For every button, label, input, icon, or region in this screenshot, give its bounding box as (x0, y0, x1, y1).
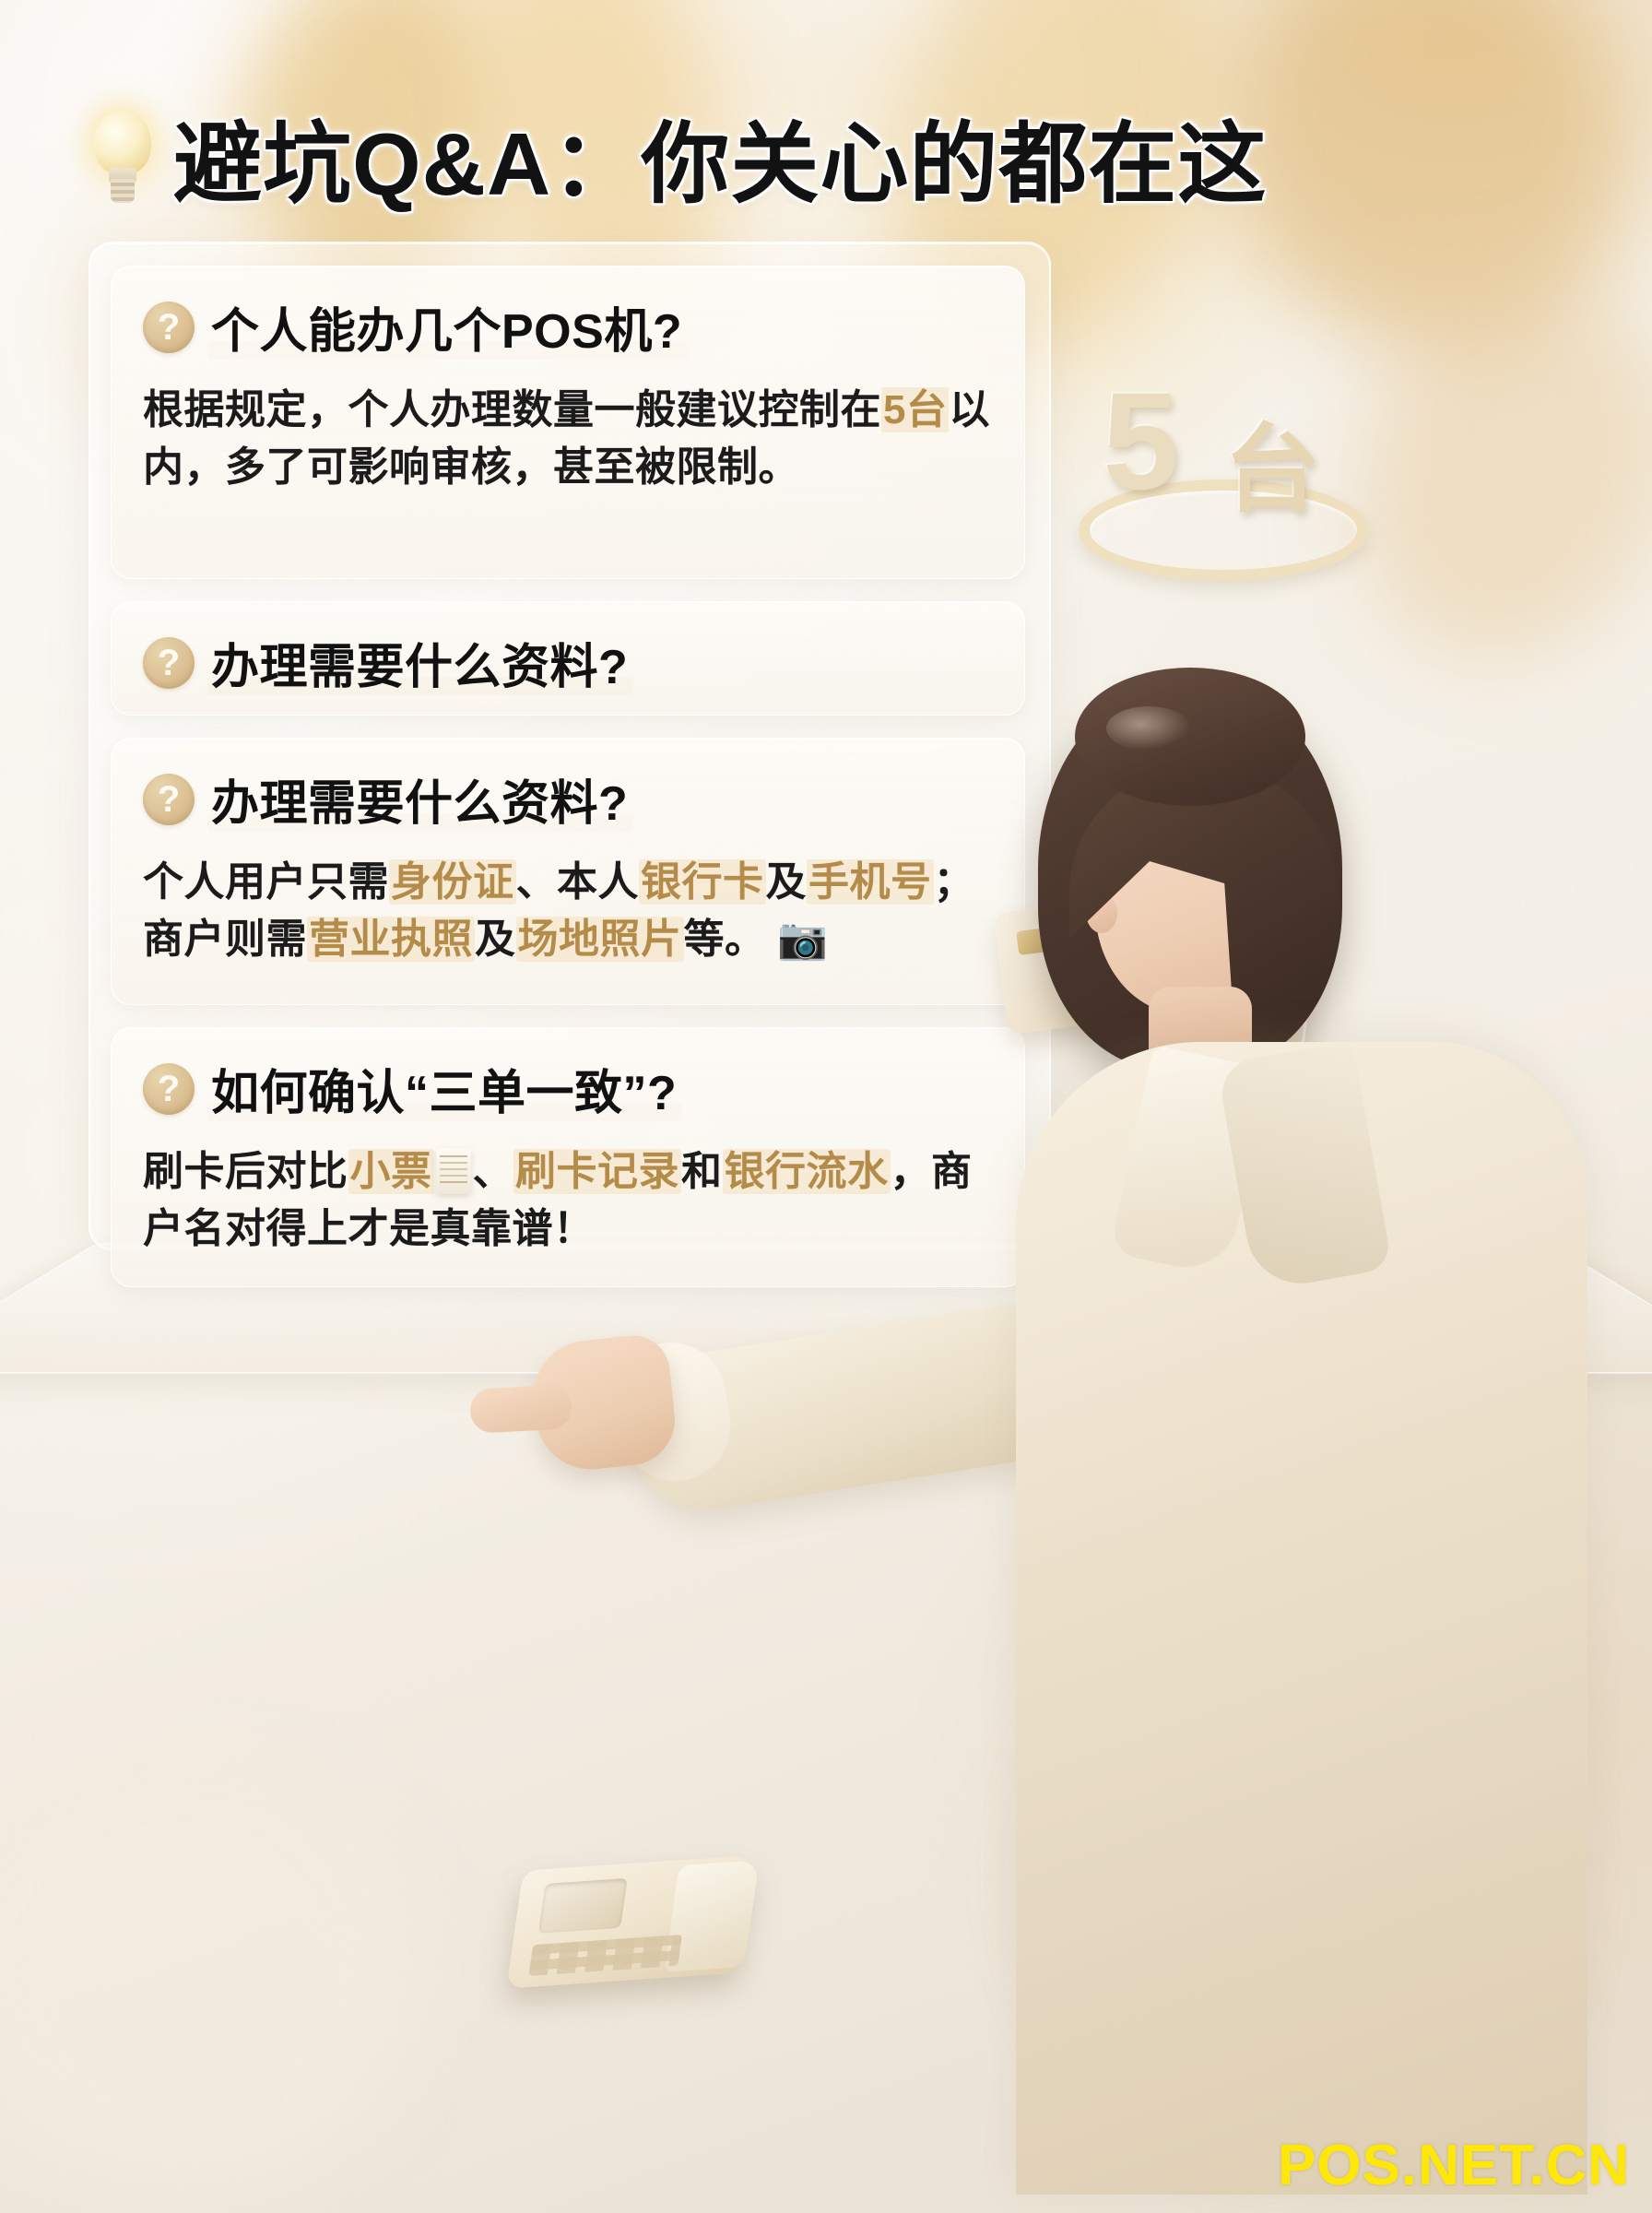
qa-card[interactable]: ? 办理需要什么资料? (111, 601, 1025, 716)
qa-card[interactable]: ? 如何确认“三单一致”? 刷卡后对比小票、刷卡记录和银行流水，商户名对得上才是… (111, 1027, 1025, 1287)
highlighted-term: 手机号 (807, 859, 934, 905)
answer-text-run: 及 (475, 917, 516, 962)
answer-text-run: 根据规定，个人办理数量一般建议控制在 (143, 387, 881, 432)
qa-card[interactable]: ? 个人能办几个POS机? 根据规定，个人办理数量一般建议控制在5台以内，多了可… (111, 266, 1025, 579)
question-text: 如何确认“三单一致”? (211, 1054, 677, 1123)
qa-card-list: ? 个人能办几个POS机? 根据规定，个人办理数量一般建议控制在5台以内，多了可… (111, 266, 1025, 1309)
answer-text: 个人用户只需身份证、本人银行卡及手机号；商户则需营业执照及场地照片等。 📷 (143, 854, 993, 969)
prop-unit: 台 (1224, 391, 1320, 530)
poster-root: 避坑Q&A：你关心的都在这 5 台 ? 个人能办几个POS机? 根据规定，个人办… (0, 0, 1652, 2213)
question-text: 办理需要什么资料? (211, 628, 628, 697)
question-mark-icon: ? (143, 774, 195, 825)
highlighted-term: 场地照片 (516, 917, 684, 962)
answer-text: 刷卡后对比小票、刷卡记录和银行流水，商户名对得上才是真靠谱！ (143, 1143, 993, 1259)
3d-woman-character (931, 682, 1652, 2213)
highlighted-term: 小票 (348, 1149, 434, 1194)
question-mark-icon: ? (143, 637, 195, 689)
question-text: 个人能办几个POS机? (211, 292, 682, 361)
page-title-row: 避坑Q&A：你关心的都在这 (88, 92, 1267, 220)
answer-text-run: 等。 📷 (684, 917, 829, 962)
highlighted-term: 银行卡 (639, 859, 766, 905)
five-units-ring-prop: 5 台 (1060, 369, 1374, 590)
question-mark-icon: ? (143, 1063, 195, 1115)
question-row: ? 办理需要什么资料? (143, 628, 993, 697)
highlighted-term: 身份证 (389, 859, 516, 905)
qa-card[interactable]: ? 办理需要什么资料? 个人用户只需身份证、本人银行卡及手机号；商户则需营业执照… (111, 738, 1025, 1005)
question-text: 办理需要什么资料? (211, 764, 628, 834)
answer-text-run: 及 (766, 859, 808, 905)
lightbulb-icon (88, 107, 157, 207)
highlighted-term: 5台 (881, 387, 949, 432)
background-bokeh-streak (0, 1752, 424, 2195)
answer-text-run: 、 (473, 1149, 514, 1194)
prop-number: 5 (1103, 361, 1179, 521)
receipt-icon (436, 1148, 471, 1194)
answer-text-run: 刷卡后对比 (143, 1149, 348, 1194)
site-watermark: POS.NET.CN (1278, 2133, 1630, 2198)
highlighted-term: 营业执照 (307, 917, 475, 962)
answer-text: 根据规定，个人办理数量一般建议控制在5台以内，多了可影响审核，甚至被限制。 (143, 382, 993, 497)
pos-terminal-3d-prop (516, 1863, 747, 1981)
question-row: ? 办理需要什么资料? (143, 764, 993, 834)
page-title: 避坑Q&A：你关心的都在这 (173, 92, 1267, 220)
answer-text-run: 和 (681, 1149, 723, 1194)
question-row: ? 如何确认“三单一致”? (143, 1054, 993, 1123)
answer-text-run: 、本人 (516, 859, 640, 905)
highlighted-term: 银行流水 (723, 1149, 891, 1194)
highlighted-term: 刷卡记录 (513, 1149, 681, 1194)
question-row: ? 个人能办几个POS机? (143, 292, 993, 361)
background-bokeh-streak (1303, 233, 1652, 706)
question-mark-icon: ? (143, 302, 195, 353)
answer-text-run: 个人用户只需 (143, 859, 389, 905)
